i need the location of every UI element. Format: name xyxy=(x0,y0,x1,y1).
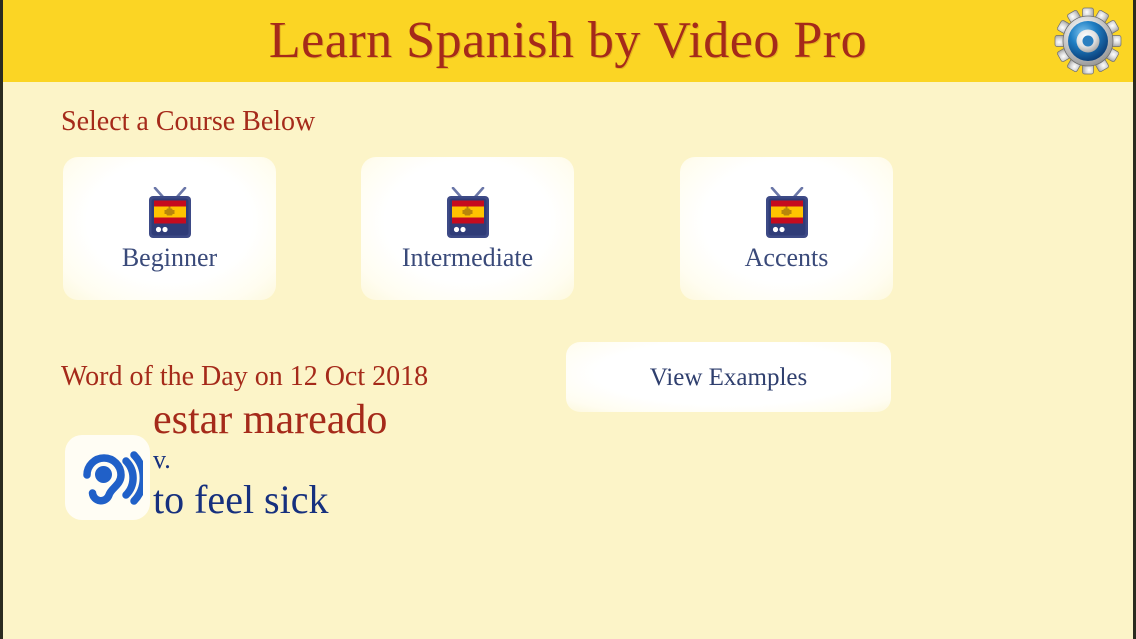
view-examples-label: View Examples xyxy=(650,365,807,390)
course-card-label: Beginner xyxy=(122,245,217,271)
course-card-label: Accents xyxy=(745,245,829,271)
select-course-heading: Select a Course Below xyxy=(61,106,315,138)
play-audio-button[interactable] xyxy=(65,435,150,520)
course-card-intermediate[interactable]: Intermediate xyxy=(361,157,574,300)
gear-icon xyxy=(1054,7,1122,75)
word-of-day-heading: Word of the Day on 12 Oct 2018 xyxy=(61,361,428,393)
course-card-row: Beginner xyxy=(63,157,893,300)
app-header: Learn Spanish by Video Pro xyxy=(3,0,1133,82)
word-of-day-part-of-speech: v. xyxy=(153,444,387,477)
word-of-day-block: estar mareado v. to feel sick xyxy=(61,398,661,543)
settings-button[interactable] xyxy=(1049,3,1127,79)
word-of-day-definition: to feel sick xyxy=(153,479,387,521)
app-root: Learn Spanish by Video Pro xyxy=(0,0,1136,639)
word-of-day-text: estar mareado v. to feel sick xyxy=(153,398,387,521)
spanish-flag-tv-icon xyxy=(760,187,814,239)
course-card-beginner[interactable]: Beginner xyxy=(63,157,276,300)
page-title: Learn Spanish by Video Pro xyxy=(269,15,867,67)
ear-hearing-icon xyxy=(73,443,143,513)
spanish-flag-tv-icon xyxy=(441,187,495,239)
course-card-accents[interactable]: Accents xyxy=(680,157,893,300)
word-of-day-term: estar mareado xyxy=(153,398,387,442)
spanish-flag-tv-icon xyxy=(143,187,197,239)
course-card-label: Intermediate xyxy=(402,245,533,271)
